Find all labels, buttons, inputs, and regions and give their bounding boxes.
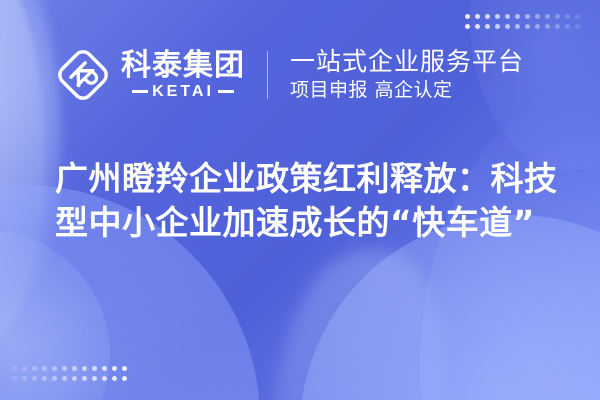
dot-icon: [52, 366, 57, 371]
promo-banner: 科泰集团 KETAI 一站式企业服务平台 项目申报 高企认定 广州瞪羚企业政策红…: [0, 0, 600, 400]
dot-icon: [122, 366, 127, 371]
header-divider: [267, 51, 268, 99]
page-title-line-1: 广州瞪羚企业政策红利释放：科技: [55, 157, 550, 201]
dot-icon: [112, 376, 117, 381]
dot-icon: [505, 14, 510, 19]
dot-icon: [32, 366, 37, 371]
dot-icon: [22, 376, 27, 381]
page-title: 广州瞪羚企业政策红利释放：科技 型中小企业加速成长的“快车道”: [55, 157, 550, 245]
dot-icon: [465, 14, 470, 19]
dot-icon: [575, 14, 580, 19]
dot-icon: [62, 366, 67, 371]
background-blob-mid-sheen: [275, 250, 445, 400]
dot-icon: [72, 376, 77, 381]
background-blob-lower-left-inner: [0, 230, 110, 400]
dot-icon: [515, 24, 520, 29]
dot-icon: [92, 366, 97, 371]
brand-name-en: KETAI: [152, 84, 214, 100]
dot-icon: [22, 366, 27, 371]
dot-icon: [525, 24, 530, 29]
dot-icon: [555, 24, 560, 29]
dot-icon: [565, 14, 570, 19]
slogan-sub-text: 项目申报 高企认定: [290, 79, 524, 103]
brand-rule-right-icon: [218, 90, 234, 93]
dot-icon: [92, 376, 97, 381]
dot-icon: [12, 366, 17, 371]
brand-rule-left-icon: [132, 90, 148, 93]
brand-lockup: 科泰集团 KETAI: [55, 47, 245, 103]
dot-icon: [102, 366, 107, 371]
dot-icon: [475, 24, 480, 29]
dot-icon: [545, 24, 550, 29]
dot-icon: [485, 24, 490, 29]
dot-icon: [82, 366, 87, 371]
dot-row: [465, 24, 580, 29]
dot-icon: [52, 376, 57, 381]
dot-icon: [122, 376, 127, 381]
dot-icon: [465, 24, 470, 29]
page-title-line-2: 型中小企业加速成长的“快车道”: [55, 201, 550, 245]
background-blob-far-right: [420, 90, 600, 400]
dot-grid-bottom-left: [12, 366, 127, 381]
brand-wordmark: 科泰集团 KETAI: [121, 50, 245, 100]
banner-header: 科泰集团 KETAI 一站式企业服务平台 项目申报 高企认定: [0, 38, 600, 112]
slogan-main-text: 一站式企业服务平台: [290, 47, 524, 77]
ketai-diamond-kp-logo-icon: [55, 47, 111, 103]
dot-icon: [495, 14, 500, 19]
dot-icon: [535, 14, 540, 19]
dot-icon: [545, 14, 550, 19]
dot-icon: [525, 14, 530, 19]
dot-icon: [112, 366, 117, 371]
dot-icon: [82, 376, 87, 381]
brand-name-cn: 科泰集团: [121, 50, 245, 82]
brand-name-en-row: KETAI: [132, 84, 234, 100]
dot-row: [465, 14, 580, 19]
dot-icon: [102, 376, 107, 381]
dot-icon: [505, 24, 510, 29]
dot-icon: [42, 376, 47, 381]
dot-icon: [72, 366, 77, 371]
dot-icon: [12, 376, 17, 381]
dot-grid-top-right: [465, 14, 580, 29]
dot-icon: [495, 24, 500, 29]
slogan-block: 一站式企业服务平台 项目申报 高企认定: [290, 47, 524, 103]
dot-row: [12, 366, 127, 371]
dot-icon: [485, 14, 490, 19]
dot-icon: [555, 14, 560, 19]
dot-icon: [32, 376, 37, 381]
dot-icon: [575, 24, 580, 29]
dot-icon: [515, 14, 520, 19]
dot-icon: [535, 24, 540, 29]
dot-icon: [62, 376, 67, 381]
dot-icon: [565, 24, 570, 29]
dot-icon: [42, 366, 47, 371]
dot-icon: [475, 14, 480, 19]
dot-row: [12, 376, 127, 381]
